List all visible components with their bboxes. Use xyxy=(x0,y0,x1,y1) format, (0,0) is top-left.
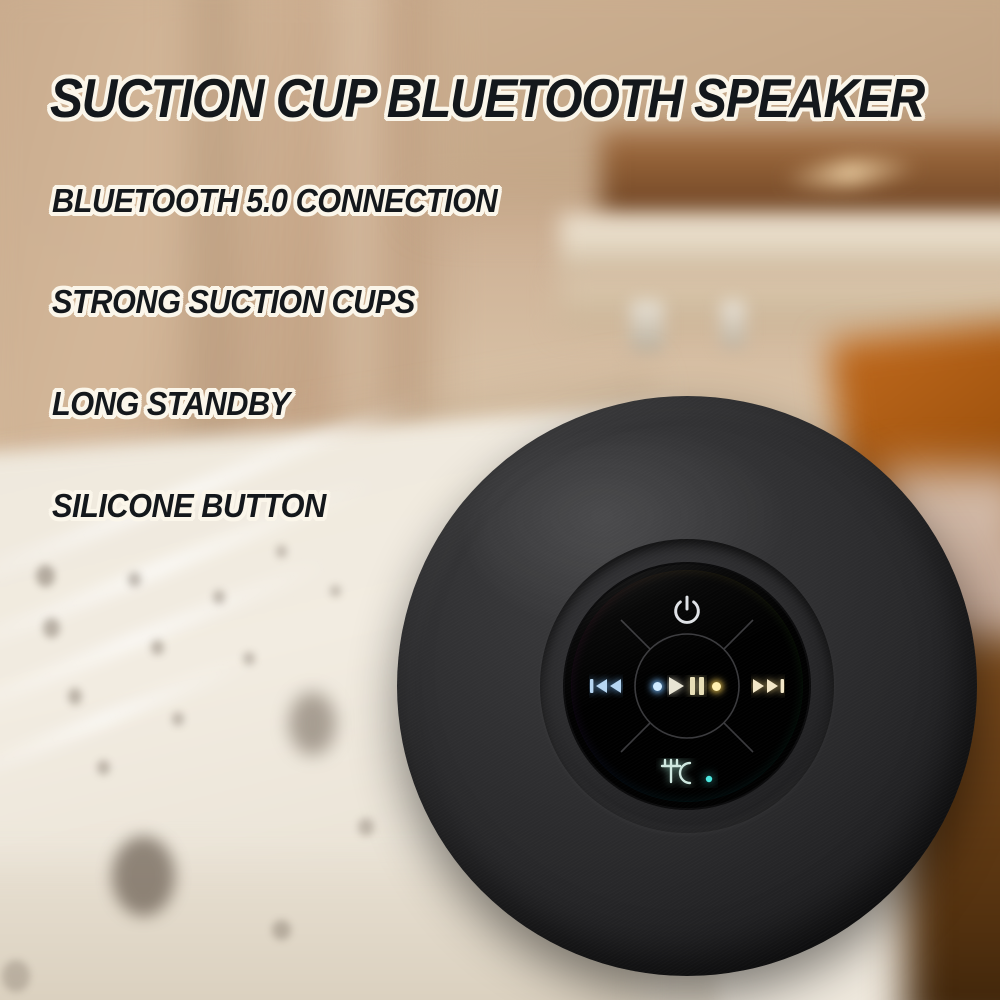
next-track-button[interactable] xyxy=(751,674,785,698)
led-blue-indicator xyxy=(653,682,662,691)
play-pause-icon xyxy=(667,675,707,697)
counter-edge xyxy=(560,275,1000,327)
water-droplet xyxy=(128,572,141,587)
water-droplet xyxy=(213,590,225,604)
feature-item-2: LONG STANDBY xyxy=(52,385,290,423)
water-droplet xyxy=(358,818,374,836)
feature-item-0: BLUETOOTH 5.0 CONNECTION xyxy=(52,182,497,220)
water-droplet xyxy=(243,652,255,665)
water-droplet xyxy=(2,960,30,992)
water-droplet xyxy=(68,688,82,705)
previous-track-icon xyxy=(589,674,623,698)
water-droplet xyxy=(97,760,110,775)
led-yellow-indicator xyxy=(712,682,721,691)
water-droplet xyxy=(330,585,341,597)
call-mic-button[interactable] xyxy=(656,758,718,788)
control-panel-glass[interactable] xyxy=(565,564,809,808)
next-track-icon xyxy=(751,674,785,698)
feature-item-1: STRONG SUCTION CUPS xyxy=(52,283,415,321)
play-pause-button[interactable] xyxy=(653,675,721,697)
water-droplet xyxy=(272,920,291,940)
water-droplet xyxy=(276,545,287,558)
microphone-call-icon xyxy=(656,758,718,788)
water-droplet xyxy=(43,618,60,638)
water-droplet xyxy=(36,565,55,587)
power-button[interactable] xyxy=(670,594,704,628)
page-title: SUCTION CUP BLUETOOTH SPEAKER xyxy=(50,66,924,130)
counter-top xyxy=(560,215,1000,275)
water-droplet xyxy=(172,712,184,726)
faucet-right xyxy=(720,300,746,348)
bluetooth-speaker-body[interactable] xyxy=(397,396,977,976)
faucet-left xyxy=(630,300,664,352)
previous-track-button[interactable] xyxy=(589,674,623,698)
water-droplet xyxy=(151,640,164,655)
control-panel-bezel xyxy=(540,539,834,833)
water-droplet-large xyxy=(289,692,336,755)
feature-item-3: SILICONE BUTTON xyxy=(52,487,326,525)
power-icon xyxy=(670,594,704,628)
product-banner: SUCTION CUP BLUETOOTH SPEAKER BLUETOOTH … xyxy=(0,0,1000,1000)
water-droplet-large xyxy=(112,836,175,916)
speaker-sheen xyxy=(472,437,797,634)
